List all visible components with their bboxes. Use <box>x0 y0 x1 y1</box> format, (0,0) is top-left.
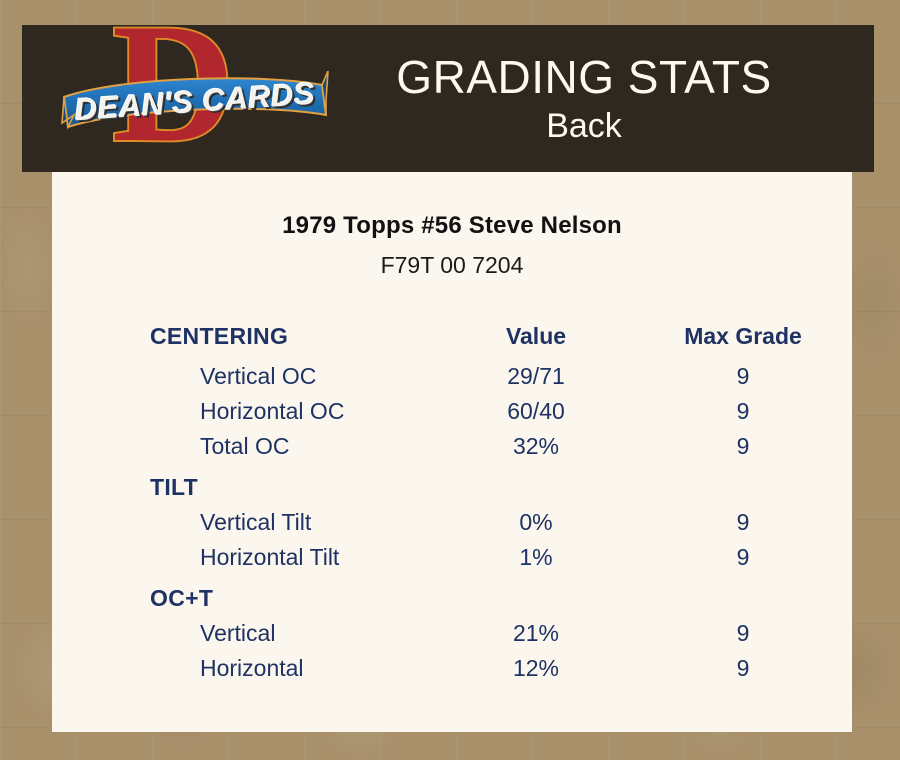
table-row: Total OC 32% 9 <box>52 429 852 464</box>
header-title-group: GRADING STATS Back <box>330 51 874 147</box>
row-value: 60/40 <box>452 394 652 429</box>
content-panel: 1979 Topps #56 Steve Nelson F79T 00 7204… <box>52 172 852 732</box>
section-spacer-grade <box>652 575 852 616</box>
row-label: Vertical Tilt <box>52 505 452 540</box>
row-value: 32% <box>452 429 652 464</box>
row-value: 29/71 <box>452 359 652 394</box>
logo-ribbon-banner: DEAN'S CARDS <box>60 71 330 133</box>
table-row: Horizontal OC 60/40 9 <box>52 394 852 429</box>
section-spacer-value <box>452 575 652 616</box>
row-label: Horizontal OC <box>52 394 452 429</box>
grading-stats-table: CENTERING Value Max Grade Vertical OC 29… <box>52 323 852 686</box>
row-value: 0% <box>452 505 652 540</box>
header-bar: D <box>22 25 874 172</box>
table-row: Horizontal Tilt 1% 9 <box>52 540 852 575</box>
row-value: 12% <box>452 651 652 686</box>
table-header: CENTERING Value Max Grade <box>52 323 852 359</box>
row-label: Horizontal <box>52 651 452 686</box>
row-max-grade: 9 <box>652 505 852 540</box>
column-header-section: CENTERING <box>52 323 452 359</box>
row-max-grade: 9 <box>652 540 852 575</box>
table-header-row: CENTERING Value Max Grade <box>52 323 852 359</box>
page-title: GRADING STATS <box>330 51 838 103</box>
card-id: F79T 00 7204 <box>52 252 852 279</box>
column-header-value: Value <box>452 323 652 359</box>
row-label: Horizontal Tilt <box>52 540 452 575</box>
deans-cards-logo[interactable]: D <box>60 29 330 169</box>
section-spacer-value <box>452 464 652 505</box>
row-label: Total OC <box>52 429 452 464</box>
table-row: Horizontal 12% 9 <box>52 651 852 686</box>
table-row: Vertical OC 29/71 9 <box>52 359 852 394</box>
column-header-max-grade: Max Grade <box>652 323 852 359</box>
page-subtitle: Back <box>330 105 838 147</box>
card-title: 1979 Topps #56 Steve Nelson <box>52 212 852 240</box>
table-body: Vertical OC 29/71 9 Horizontal OC 60/40 … <box>52 359 852 686</box>
section-title-oct: OC+T <box>52 575 452 616</box>
section-spacer-grade <box>652 464 852 505</box>
row-max-grade: 9 <box>652 651 852 686</box>
row-max-grade: 9 <box>652 429 852 464</box>
row-label: Vertical OC <box>52 359 452 394</box>
table-row: Vertical Tilt 0% 9 <box>52 505 852 540</box>
row-max-grade: 9 <box>652 394 852 429</box>
grading-stats-page: D <box>0 0 900 760</box>
section-header-row: OC+T <box>52 575 852 616</box>
row-max-grade: 9 <box>652 616 852 651</box>
section-header-row: TILT <box>52 464 852 505</box>
table-row: Vertical 21% 9 <box>52 616 852 651</box>
row-value: 21% <box>452 616 652 651</box>
section-title-tilt: TILT <box>52 464 452 505</box>
row-label: Vertical <box>52 616 452 651</box>
row-max-grade: 9 <box>652 359 852 394</box>
row-value: 1% <box>452 540 652 575</box>
